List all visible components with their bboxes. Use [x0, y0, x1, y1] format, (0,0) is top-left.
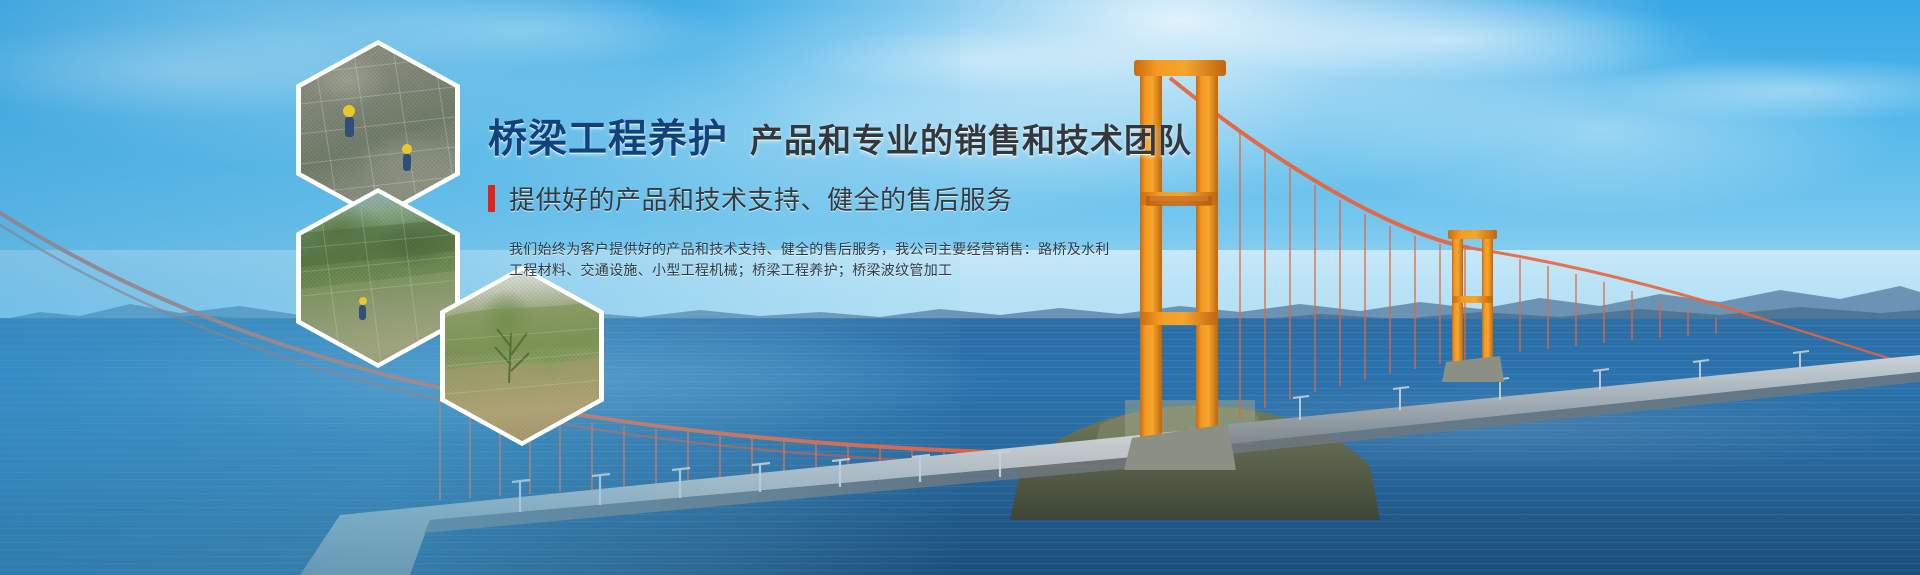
- accent-bar: [488, 185, 495, 212]
- subline-text: 提供好的产品和技术支持、健全的售后服务: [509, 180, 1013, 217]
- headline-main: 桥梁工程养护: [488, 120, 728, 159]
- body-line-2: 工程材料、交通设施、小型工程机械；桥梁工程养护；桥梁波纹管加工: [509, 260, 1069, 281]
- body-line-1: 我们始终为客户提供好的产品和技术支持、健全的售后服务，我公司主要经营销售：路桥及…: [509, 239, 1069, 260]
- headline-sub: 产品和专业的销售和技术团队: [750, 124, 1192, 157]
- suspension-bridge-graphic: [0, 0, 1920, 575]
- body-paragraph: 我们始终为客户提供好的产品和技术支持、健全的售后服务，我公司主要经营销售：路桥及…: [509, 239, 1069, 281]
- subline-row: 提供好的产品和技术支持、健全的售后服务: [488, 180, 1568, 217]
- hero-banner: 桥梁工程养护 产品和专业的销售和技术团队 提供好的产品和技术支持、健全的售后服务…: [0, 0, 1920, 575]
- banner-text-block: 桥梁工程养护 产品和专业的销售和技术团队 提供好的产品和技术支持、健全的售后服务…: [488, 120, 1568, 281]
- headline-row: 桥梁工程养护 产品和专业的销售和技术团队: [488, 120, 1568, 159]
